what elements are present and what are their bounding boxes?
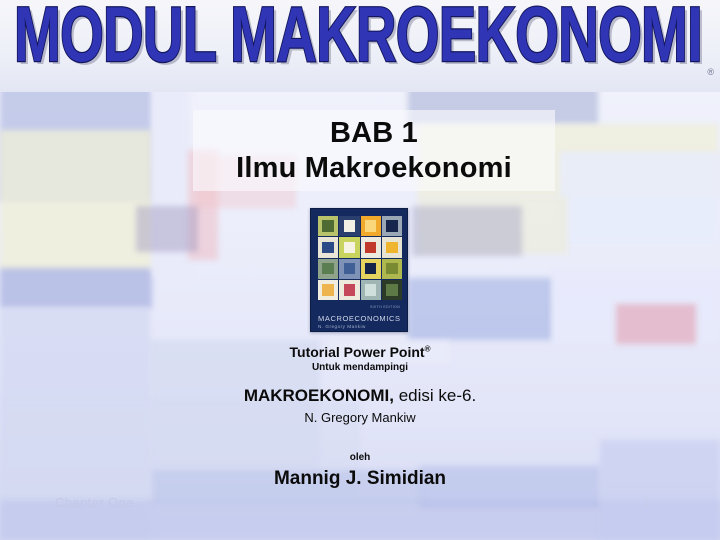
book-cover-tile [382, 259, 402, 279]
background-block [408, 278, 552, 340]
book-cover-tile [339, 237, 359, 257]
presenter-name: Mannig J. Simidian [0, 468, 720, 491]
book-cover-tile-inner [322, 242, 333, 253]
book-cover-tile-inner [386, 220, 397, 231]
book-cover-meta: MACROECONOMICS N. Gregory Mankiw [311, 315, 407, 329]
tutorial-label: Tutorial Power Point [290, 344, 425, 360]
page-title-line1: BAB 1 [193, 116, 555, 151]
book-cover-tile-inner [386, 284, 397, 295]
background-block [0, 130, 152, 270]
book-cover-tile-inner [344, 284, 355, 295]
background-block [0, 268, 152, 308]
book-cover-tile [361, 216, 381, 236]
book-cover-tile-grid [318, 216, 402, 300]
footer-chapter-label: Chapter One [55, 495, 134, 510]
credits-block: Tutorial Power Point® Untuk mendampingi … [0, 344, 720, 490]
oleh-label: oleh [0, 452, 720, 464]
slide-heading: BAB 1 Ilmu Makroekonomi [193, 110, 555, 191]
tutorial-line: Tutorial Power Point® [0, 344, 720, 360]
slide-canvas: MODUL MAKROEKONOMI MODUL MAKROEKONOMI ® … [0, 0, 720, 540]
book-edition-label: SIXTH EDITION [370, 305, 400, 309]
book-cover-tile [382, 280, 402, 300]
book-cover-tile-inner [365, 242, 376, 253]
book-reference-line: MAKROEKONOMI, edisi ke-6. [0, 386, 720, 406]
book-cover-tile [339, 280, 359, 300]
book-reference-title: MAKROEKONOMI, [244, 386, 394, 405]
book-cover-tile-inner [386, 263, 397, 274]
book-cover-tile [339, 216, 359, 236]
book-cover-author: N. Gregory Mankiw [318, 324, 400, 329]
background-block [616, 304, 696, 344]
book-cover-tile-inner [344, 242, 355, 253]
background-block [412, 206, 522, 256]
book-cover-tile [361, 237, 381, 257]
book-cover-tile [339, 259, 359, 279]
book-cover-tile-inner [344, 263, 355, 274]
footer-page-number: 1 [644, 496, 650, 508]
book-cover-tile [318, 259, 338, 279]
book-cover-tile-inner [322, 263, 333, 274]
book-cover-tile-inner [365, 220, 376, 231]
book-cover-tile [361, 280, 381, 300]
background-block [418, 196, 568, 254]
book-cover-tile-inner [322, 284, 333, 295]
background-block [0, 86, 152, 202]
book-cover-tile-inner [344, 220, 355, 231]
book-cover-tile [318, 237, 338, 257]
book-cover-title: MACROECONOMICS [318, 315, 400, 323]
book-cover-tile-inner [386, 242, 397, 253]
tutorial-trademark-icon: ® [425, 344, 431, 353]
background-block [560, 152, 720, 244]
book-cover-tile [318, 216, 338, 236]
wordart-banner: MODUL MAKROEKONOMI MODUL MAKROEKONOMI ® [0, 0, 720, 92]
book-reference-author: N. Gregory Mankiw [0, 410, 720, 426]
book-cover-tile [382, 216, 402, 236]
book-cover-tile-inner [322, 220, 333, 231]
registered-trademark-icon: ® [707, 68, 714, 77]
untuk-mendampingi-label: Untuk mendampingi [0, 362, 720, 374]
book-cover-tile-inner [365, 284, 376, 295]
page-title-line2: Ilmu Makroekonomi [193, 151, 555, 186]
wordart-title-graphic: MODUL MAKROEKONOMI MODUL MAKROEKONOMI [8, 0, 708, 86]
book-cover-tile [361, 259, 381, 279]
background-block [552, 272, 720, 344]
book-reference-edition: edisi ke-6. [394, 386, 476, 405]
book-cover-image: SIXTH EDITION MACROECONOMICS N. Gregory … [310, 208, 408, 332]
book-cover-tile [318, 280, 338, 300]
background-block [136, 206, 198, 252]
book-cover-tile-inner [365, 263, 376, 274]
wordart-title-text: MODUL MAKROEKONOMI [14, 0, 702, 78]
book-cover-tile [382, 237, 402, 257]
background-block [152, 86, 190, 276]
